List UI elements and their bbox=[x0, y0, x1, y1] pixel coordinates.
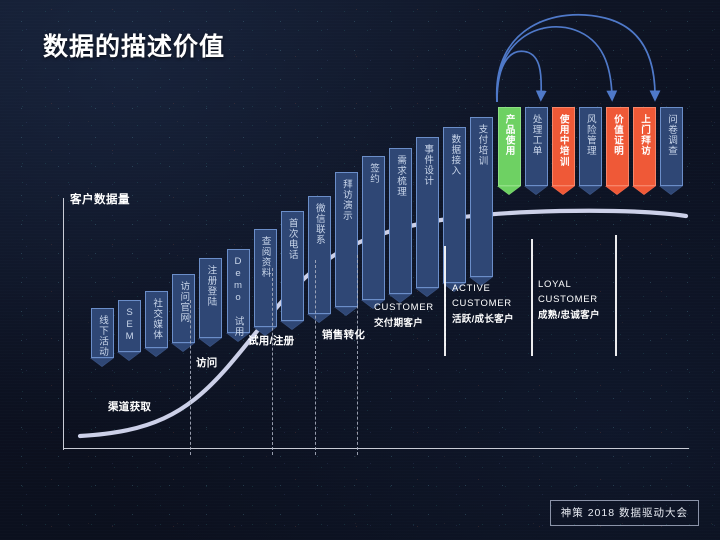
journey-chevron[interactable]: 线下活动 bbox=[91, 308, 114, 358]
journey-chevron[interactable]: 风险管理 bbox=[579, 107, 602, 186]
chevron-label: 拜访演示 bbox=[335, 179, 358, 221]
chevron-label: 事件设计 bbox=[416, 144, 439, 186]
segment-en-line1: LOYAL bbox=[538, 277, 600, 292]
phase-separator bbox=[272, 268, 273, 455]
customer-segment: ACTIVECUSTOMER活跃/成长客户 bbox=[452, 281, 514, 327]
chevron-label: Demo 试用 bbox=[227, 256, 250, 337]
segment-separator bbox=[444, 246, 446, 356]
journey-chevron[interactable]: 处理工单 bbox=[525, 107, 548, 186]
chevron-label: 需求梳理 bbox=[389, 155, 412, 197]
background-noise-layer bbox=[0, 0, 720, 540]
y-axis-label: 客户数据量 bbox=[70, 191, 130, 207]
segment-en-line2: CUSTOMER bbox=[538, 292, 600, 307]
chevron-label: 使用中培训 bbox=[552, 114, 575, 167]
chevron-label: 支付培训 bbox=[470, 124, 493, 166]
phase-separator bbox=[315, 260, 316, 455]
conference-badge: 神策 2018 数据驱动大会 bbox=[550, 500, 699, 526]
chevron-arrow-fill bbox=[580, 187, 600, 194]
background-scanline-layer bbox=[0, 0, 720, 540]
journey-chevron[interactable]: 拜访演示 bbox=[335, 172, 358, 307]
chevron-label: 线下活动 bbox=[91, 315, 114, 357]
chevron-label: 产品使用 bbox=[498, 114, 521, 156]
chevron-arrow-fill bbox=[92, 359, 112, 366]
upsell-arrows bbox=[0, 0, 720, 540]
s-curve bbox=[0, 0, 720, 540]
journey-chevron[interactable]: 查阅资料 bbox=[254, 229, 277, 327]
journey-chevron[interactable]: Demo 试用 bbox=[227, 249, 250, 333]
chevron-label: 社交媒体 bbox=[145, 298, 168, 340]
segment-cn-label: 交付期客户 bbox=[374, 316, 434, 331]
chevron-label: 数据接入 bbox=[443, 134, 466, 176]
journey-chevron[interactable]: 产品使用 bbox=[498, 107, 521, 186]
slide-canvas: 数据的描述价值 客户数据量 线下活动SEM社交媒体访问官网注册登陆Demo 试用… bbox=[0, 0, 720, 540]
customer-segment: CUSTOMER交付期客户 bbox=[374, 300, 434, 331]
journey-chevron[interactable]: 数据接入 bbox=[443, 127, 466, 283]
journey-chevron[interactable]: 使用中培训 bbox=[552, 107, 575, 186]
phase-separator bbox=[190, 300, 191, 455]
journey-chevron[interactable]: 注册登陆 bbox=[199, 258, 222, 338]
chevron-label: 访问官网 bbox=[172, 281, 195, 323]
chevron-label: 上门拜访 bbox=[633, 114, 656, 156]
phase-label: 试用/注册 bbox=[248, 333, 294, 348]
chevron-label: 风险管理 bbox=[579, 114, 602, 156]
chevron-arrow-fill bbox=[417, 289, 437, 296]
journey-chevron[interactable]: 上门拜访 bbox=[633, 107, 656, 186]
chevron-label: 价值证明 bbox=[606, 114, 629, 156]
journey-chevron[interactable]: 价值证明 bbox=[606, 107, 629, 186]
chevron-arrow-fill bbox=[336, 308, 356, 315]
chevron-arrow-fill bbox=[146, 349, 166, 356]
chevron-label: 注册登陆 bbox=[199, 265, 222, 307]
chevron-arrow-fill bbox=[200, 339, 220, 346]
chevron-label: 微信联系 bbox=[308, 203, 331, 245]
segment-en-line2: CUSTOMER bbox=[374, 300, 434, 315]
segment-en-line1: ACTIVE bbox=[452, 281, 514, 296]
journey-chevron[interactable]: 访问官网 bbox=[172, 274, 195, 343]
chevron-arrow-fill bbox=[309, 315, 329, 322]
chevron-label: 签约 bbox=[362, 163, 385, 184]
segment-separator bbox=[615, 235, 617, 356]
journey-chevron[interactable]: 事件设计 bbox=[416, 137, 439, 288]
x-axis-line bbox=[63, 448, 689, 449]
chevron-label: 首次电话 bbox=[281, 218, 304, 260]
journey-chevron[interactable]: 支付培训 bbox=[470, 117, 493, 277]
y-axis-line bbox=[63, 198, 64, 450]
page-title: 数据的描述价值 bbox=[43, 27, 225, 63]
segment-cn-label: 活跃/成长客户 bbox=[452, 312, 514, 327]
journey-chevron[interactable]: 签约 bbox=[362, 156, 385, 300]
journey-chevron[interactable]: 问卷调查 bbox=[660, 107, 683, 186]
segment-en-line2: CUSTOMER bbox=[452, 296, 514, 311]
chevron-arrow-fill bbox=[634, 187, 654, 194]
journey-chevron[interactable]: SEM bbox=[118, 300, 141, 352]
chevron-arrow-fill bbox=[526, 187, 546, 194]
chevron-arrow-fill bbox=[661, 187, 681, 194]
segment-cn-label: 成熟/忠诚客户 bbox=[538, 308, 600, 323]
journey-chevron[interactable]: 首次电话 bbox=[281, 211, 304, 321]
background-noise-layer bbox=[0, 0, 720, 540]
chevron-arrow-fill bbox=[553, 187, 573, 194]
journey-chevron[interactable]: 社交媒体 bbox=[145, 291, 168, 348]
phase-label: 销售转化 bbox=[322, 327, 365, 342]
chevron-label: 处理工单 bbox=[525, 114, 548, 156]
chevron-arrow-fill bbox=[119, 353, 139, 360]
journey-chevron[interactable]: 需求梳理 bbox=[389, 148, 412, 294]
segment-separator bbox=[531, 239, 533, 356]
chevron-label: 查阅资料 bbox=[254, 236, 277, 278]
journey-chevron[interactable]: 微信联系 bbox=[308, 196, 331, 314]
chevron-label: SEM bbox=[118, 307, 141, 343]
chevron-label: 问卷调查 bbox=[660, 114, 683, 156]
customer-segment: LOYALCUSTOMER成熟/忠诚客户 bbox=[538, 277, 600, 323]
chevron-arrow-fill bbox=[282, 322, 302, 329]
phase-label: 渠道获取 bbox=[108, 399, 151, 414]
phase-separator bbox=[357, 255, 358, 455]
phase-label: 访问 bbox=[196, 355, 218, 370]
chevron-arrow-fill bbox=[607, 187, 627, 194]
chevron-arrow-fill bbox=[499, 187, 519, 194]
